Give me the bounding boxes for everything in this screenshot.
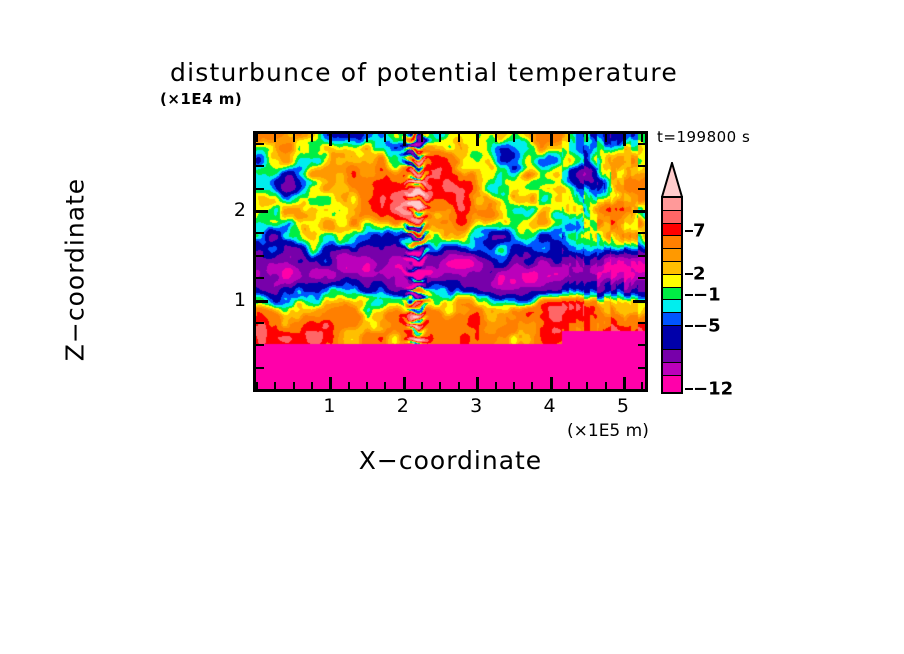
x-tick-top: [348, 134, 350, 142]
colorbar-band: [663, 363, 681, 376]
colorbar-band: [663, 249, 681, 262]
x-tick: [586, 382, 588, 390]
colorbar-label: −5: [693, 315, 721, 336]
y-tick-right: [638, 232, 646, 234]
y-tick-right: [638, 344, 646, 346]
x-tick: [329, 377, 332, 389]
x-tick-label: 5: [617, 395, 629, 417]
x-tick: [513, 382, 515, 390]
x-tick-top: [531, 134, 533, 142]
x-tick-top: [293, 134, 295, 142]
x-tick-top: [329, 134, 332, 146]
x-tick-top: [586, 134, 588, 142]
y-tick: [256, 188, 264, 190]
y-tick: [256, 143, 264, 145]
colorbar-band: [663, 350, 681, 363]
colorbar[interactable]: 72−1−5−12: [657, 162, 693, 394]
x-tick-top: [568, 134, 570, 142]
x-tick: [550, 377, 553, 389]
timestamp-annotation: t=199800 s: [657, 128, 750, 146]
colorbar-band: [663, 211, 681, 224]
x-tick-label: 4: [544, 395, 556, 417]
x-tick: [495, 382, 497, 390]
x-tick-top: [384, 134, 386, 142]
colorbar-band: [663, 326, 681, 350]
colorbar-band: [663, 262, 681, 275]
y-tick-right: [638, 165, 646, 167]
y-tick-right: [638, 143, 646, 145]
temperature-field-heatmap: [256, 134, 645, 389]
x-tick: [568, 382, 570, 390]
x-tick-label: 2: [397, 395, 409, 417]
colorbar-tick: [685, 388, 693, 390]
x-tick: [256, 382, 258, 390]
y-tick-label: 1: [220, 289, 246, 311]
x-tick-top: [274, 134, 276, 142]
x-tick: [403, 377, 406, 389]
y-axis-title: Z−coordinate: [61, 140, 90, 400]
x-tick: [293, 382, 295, 390]
y-tick-right: [638, 322, 646, 324]
y-tick-right: [638, 367, 646, 369]
y-tick: [256, 300, 268, 303]
colorbar-band: [663, 224, 681, 237]
y-tick: [256, 367, 264, 369]
y-tick-right: [638, 255, 646, 257]
plot-area[interactable]: [253, 131, 648, 392]
colorbar-label: 2: [693, 264, 706, 285]
x-tick-top: [641, 134, 643, 142]
y-tick: [256, 210, 268, 213]
y-tick-right: [633, 210, 645, 213]
x-tick: [605, 382, 607, 390]
colorbar-tick: [685, 273, 693, 275]
y-tick: [256, 344, 264, 346]
y-units-label: (×1E4 m): [160, 90, 242, 108]
x-tick: [531, 382, 533, 390]
x-tick-top: [623, 134, 626, 146]
x-tick: [641, 382, 643, 390]
y-tick-right: [638, 188, 646, 190]
x-tick: [366, 382, 368, 390]
figure-title: disturbunce of potential temperature: [170, 58, 770, 87]
x-tick: [623, 377, 626, 389]
colorbar-label: 7: [693, 220, 706, 241]
x-tick-top: [605, 134, 607, 142]
x-tick: [421, 382, 423, 390]
y-tick-right: [633, 300, 645, 303]
x-tick-top: [403, 134, 406, 146]
x-tick-top: [476, 134, 479, 146]
x-tick: [384, 382, 386, 390]
colorbar-band: [663, 275, 681, 288]
y-tick: [256, 322, 264, 324]
x-tick-top: [311, 134, 313, 142]
x-tick: [348, 382, 350, 390]
figure-root: disturbunce of potential temperature (×1…: [0, 0, 904, 654]
x-tick-label: 1: [323, 395, 335, 417]
colorbar-band: [663, 288, 681, 301]
colorbar-band: [663, 198, 681, 211]
y-tick-label: 2: [220, 199, 246, 221]
y-tick-right: [638, 277, 646, 279]
x-tick-top: [513, 134, 515, 142]
colorbar-band: [663, 313, 681, 326]
colorbar-tick: [685, 294, 693, 296]
colorbar-tick: [685, 230, 693, 232]
x-tick: [458, 382, 460, 390]
colorbar-label: −1: [693, 285, 721, 306]
colorbar-tick: [685, 325, 693, 327]
x-axis-units: (×1E5 m): [567, 421, 649, 441]
colorbar-bands: [661, 196, 683, 394]
x-tick-top: [366, 134, 368, 142]
x-tick: [476, 377, 479, 389]
y-tick: [256, 232, 264, 234]
y-tick: [256, 165, 264, 167]
colorbar-label: −12: [693, 379, 733, 400]
colorbar-band: [663, 236, 681, 249]
x-tick-top: [421, 134, 423, 142]
x-tick-top: [495, 134, 497, 142]
x-tick: [311, 382, 313, 390]
x-tick-top: [439, 134, 441, 142]
x-axis-title: X−coordinate: [253, 446, 648, 475]
colorbar-band: [663, 376, 681, 392]
y-tick: [256, 255, 264, 257]
colorbar-band: [663, 300, 681, 313]
x-tick: [274, 382, 276, 390]
y-tick: [256, 277, 264, 279]
x-tick-label: 3: [470, 395, 482, 417]
x-tick-top: [256, 134, 258, 142]
x-tick-top: [458, 134, 460, 142]
x-tick: [439, 382, 441, 390]
colorbar-extend-arrow-icon: [661, 162, 683, 198]
x-tick-top: [550, 134, 553, 146]
